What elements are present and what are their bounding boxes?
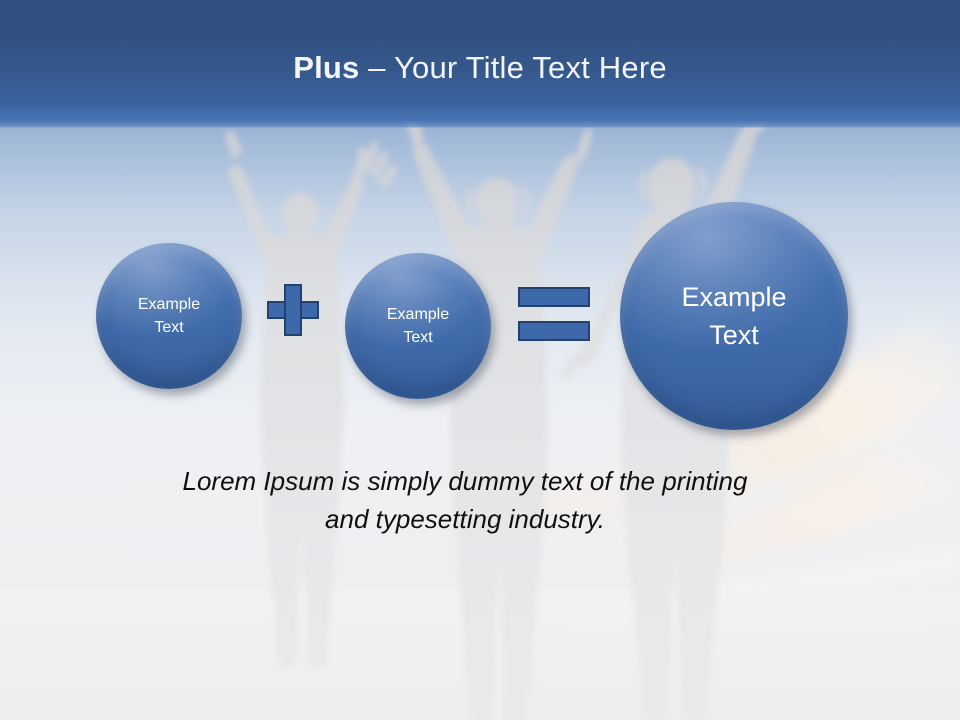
operand-circle-b-label-line2: Text — [377, 326, 459, 349]
result-circle-label-line1: Example — [671, 278, 796, 316]
operand-circle-b-label: Example Text — [377, 303, 459, 349]
caption-line-2: and typesetting industry. — [110, 500, 820, 538]
caption-text: Lorem Ipsum is simply dummy text of the … — [110, 462, 820, 538]
result-circle-label: Example Text — [671, 278, 796, 354]
operand-circle-b-label-line1: Example — [377, 303, 459, 326]
equals-icon — [518, 287, 590, 341]
title-emphasis: Plus — [293, 50, 359, 85]
page-title: Plus – Your Title Text Here — [0, 50, 960, 86]
operand-circle-a-label-line1: Example — [128, 293, 210, 316]
operand-circle-a-label-line2: Text — [128, 316, 210, 339]
presentation-slide: Plus – Your Title Text Here Example Text… — [0, 0, 960, 720]
operand-circle-a-label: Example Text — [128, 293, 210, 339]
plus-icon — [267, 284, 319, 336]
title-rest: – Your Title Text Here — [359, 50, 666, 85]
caption-line-1: Lorem Ipsum is simply dummy text of the … — [110, 462, 820, 500]
operand-circle-a[interactable]: Example Text — [96, 243, 242, 389]
equals-bottom-bar — [518, 321, 590, 341]
operand-circle-b[interactable]: Example Text — [345, 253, 491, 399]
plus-center-patch — [286, 303, 300, 317]
result-circle[interactable]: Example Text — [620, 202, 848, 430]
equals-top-bar — [518, 287, 590, 307]
result-circle-label-line2: Text — [671, 316, 796, 354]
